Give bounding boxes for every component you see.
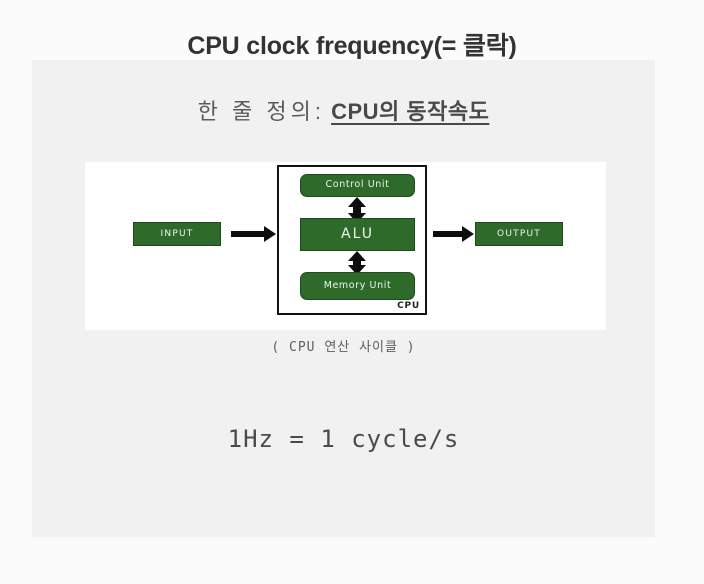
definition-value: CPU의 동작속도: [331, 99, 489, 124]
diagram-output-box: OUTPUT: [475, 222, 563, 246]
diagram-input-box: INPUT: [133, 222, 221, 246]
arrow-input-to-cpu-icon: [231, 231, 265, 237]
cpu-enclosure-label: CPU: [397, 301, 420, 311]
slide-content-panel: 한 줄 정의: CPU의 동작속도 INPUT CPU Control Unit…: [32, 60, 655, 537]
arrow-control-alu-icon: [353, 206, 361, 214]
figure-caption: ( CPU 연산 사이클 ): [32, 336, 655, 355]
diagram-control-unit-box: Control Unit: [300, 174, 415, 197]
diagram-alu-box: ALU: [300, 218, 415, 251]
diagram-memory-unit-box: Memory Unit: [300, 272, 415, 300]
cpu-cycle-figure: INPUT CPU Control Unit ALU Memory Unit O…: [85, 162, 606, 330]
page-title: CPU clock frequency(= 클락): [0, 26, 704, 62]
definition-label: 한 줄 정의:: [198, 99, 325, 124]
formula-text: 1Hz = 1 cycle/s: [32, 425, 655, 453]
arrow-alu-memory-icon: [353, 260, 361, 266]
one-line-definition: 한 줄 정의: CPU의 동작속도: [32, 94, 655, 126]
cpu-block-diagram: INPUT CPU Control Unit ALU Memory Unit O…: [85, 162, 606, 330]
arrow-cpu-to-output-icon: [433, 231, 463, 237]
